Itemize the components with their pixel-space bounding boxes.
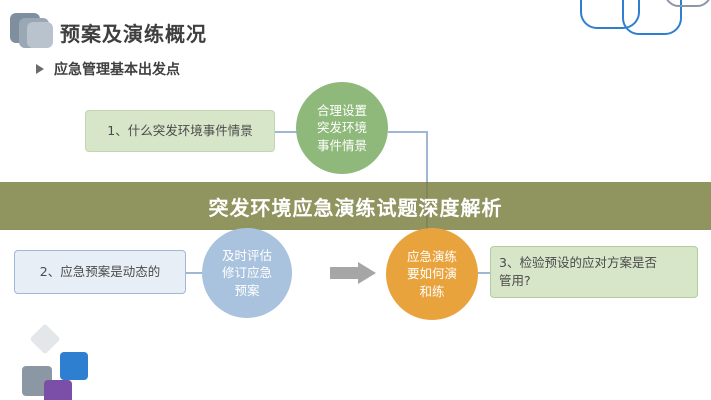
flow-box-question-3[interactable]: 3、检验预设的应对方案是否 管用?	[490, 246, 698, 298]
flow-node-drill-line-2: 要如何演	[407, 265, 457, 283]
watermark-banner-text: 突发环境应急演练试题深度解析	[209, 192, 503, 221]
flow-box-question-1-label: 1、什么突发环境事件情景	[107, 122, 252, 140]
page-title: 预案及演练概况	[60, 18, 207, 47]
flow-node-drill[interactable]: 应急演练 要如何演 和练	[386, 228, 478, 320]
flow-box-question-1[interactable]: 1、什么突发环境事件情景	[85, 110, 275, 152]
flow-node-drill-line-1: 应急演练	[407, 248, 457, 266]
flow-node-revise-plan-line-3: 预案	[222, 282, 272, 300]
triangle-bullet-icon	[36, 64, 44, 74]
flow-node-revise-plan[interactable]: 及时评估 修订应急 预案	[202, 228, 292, 318]
bullet-row: 应急管理基本出发点	[36, 59, 180, 79]
square-shape-blue	[60, 352, 88, 380]
watermark-banner: 突发环境应急演练试题深度解析	[0, 182, 711, 230]
square-shape-front	[27, 22, 53, 48]
connector-n1-right	[388, 131, 428, 133]
flow-box-question-3-line-1: 3、检验预设的应对方案是否	[499, 254, 697, 272]
flow-node-scenario-line-2: 突发环境	[317, 119, 367, 137]
rounded-outline-shapes-icon	[571, 0, 711, 60]
slide-canvas: 预案及演练概况 应急管理基本出发点 1、什么突发环境事件情景 合理设置 突发环境…	[0, 0, 711, 400]
arrow-right-icon	[330, 262, 376, 284]
flow-box-question-3-line-2: 管用?	[499, 272, 697, 290]
flow-node-revise-plan-line-1: 及时评估	[222, 247, 272, 265]
flow-node-scenario-line-1: 合理设置	[317, 102, 367, 120]
flow-node-scenario-line-3: 事件情景	[317, 137, 367, 155]
diamond-shape	[29, 323, 60, 354]
bullet-label: 应急管理基本出发点	[54, 59, 180, 79]
square-shape-purple	[44, 380, 72, 400]
flow-node-scenario[interactable]: 合理设置 突发环境 事件情景	[296, 82, 388, 174]
flow-box-question-2-label: 2、应急预案是动态的	[40, 263, 160, 281]
flow-node-drill-line-3: 和练	[407, 283, 457, 301]
flow-node-revise-plan-line-2: 修订应急	[222, 264, 272, 282]
flow-box-question-2[interactable]: 2、应急预案是动态的	[14, 250, 186, 294]
